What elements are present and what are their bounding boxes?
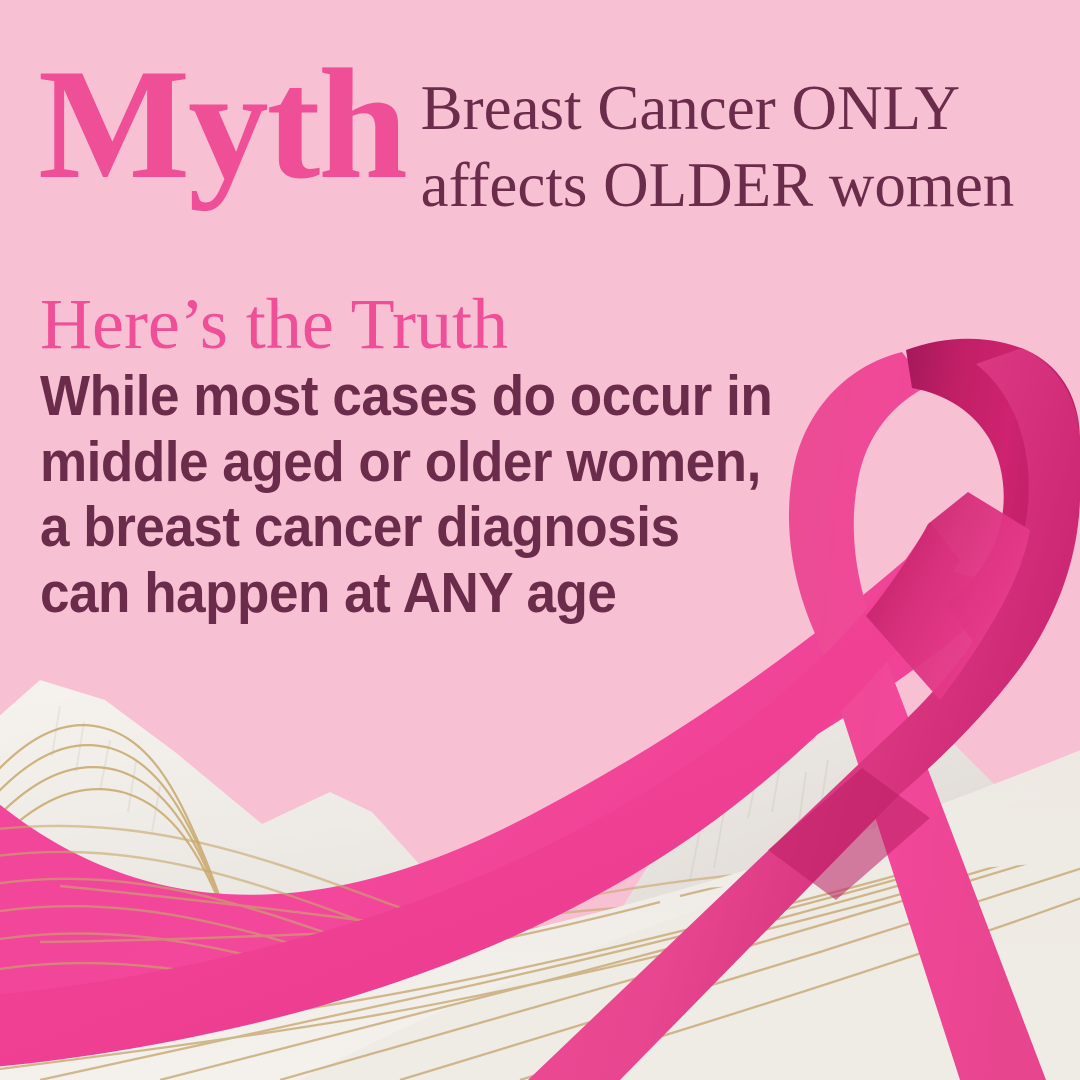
truth-body-line-1: While most cases do occur in [40, 364, 812, 430]
myth-claim-line-1: Breast Cancer ONLY [421, 73, 961, 143]
truth-body: While most cases do occur in middle aged… [40, 364, 812, 626]
myth-label: Myth [38, 52, 406, 197]
truth-block: Here’s the Truth While most cases do occ… [40, 288, 870, 626]
myth-claim-line-2: affects OLDER women [421, 147, 1015, 224]
poster-canvas: Myth Breast Cancer ONLY affects OLDER wo… [0, 0, 1080, 1080]
truth-heading: Here’s the Truth [40, 288, 870, 360]
truth-body-line-3: a breast cancer diagnosis [40, 495, 812, 561]
headline-row: Myth Breast Cancer ONLY affects OLDER wo… [38, 52, 1058, 224]
truth-body-line-2: middle aged or older women, [40, 430, 812, 496]
truth-body-line-4: can happen at ANY age [40, 561, 812, 627]
myth-claim: Breast Cancer ONLY affects OLDER women [399, 52, 1015, 224]
poster-text-layer: Myth Breast Cancer ONLY affects OLDER wo… [0, 0, 1080, 1080]
